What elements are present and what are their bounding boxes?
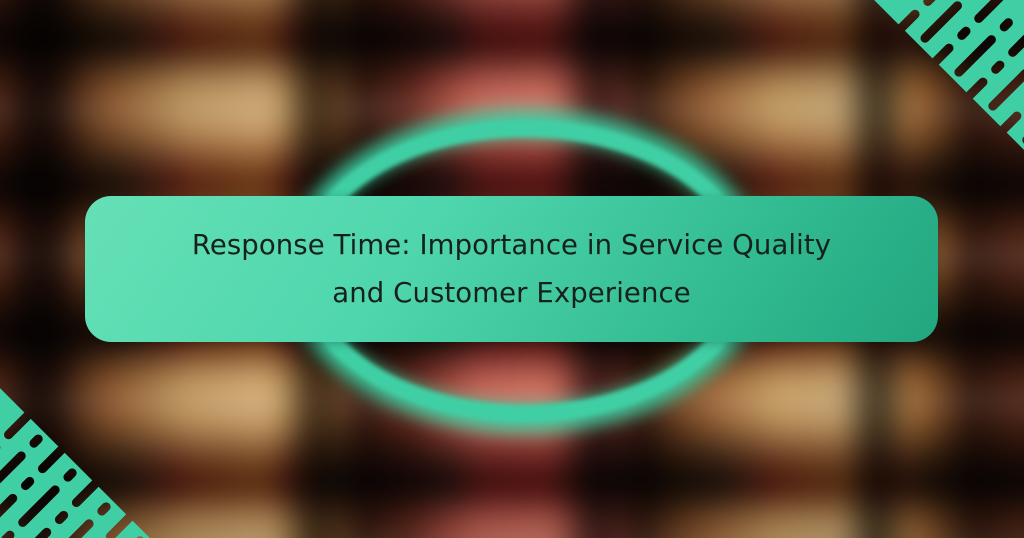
title-card: Response Time: Importance in Service Qua… <box>85 196 938 342</box>
page-title-line-1: Response Time: Importance in Service Qua… <box>192 221 831 269</box>
page-title-line-2: and Customer Experience <box>332 269 690 317</box>
banner-canvas: Response Time: Importance in Service Qua… <box>0 0 1024 538</box>
